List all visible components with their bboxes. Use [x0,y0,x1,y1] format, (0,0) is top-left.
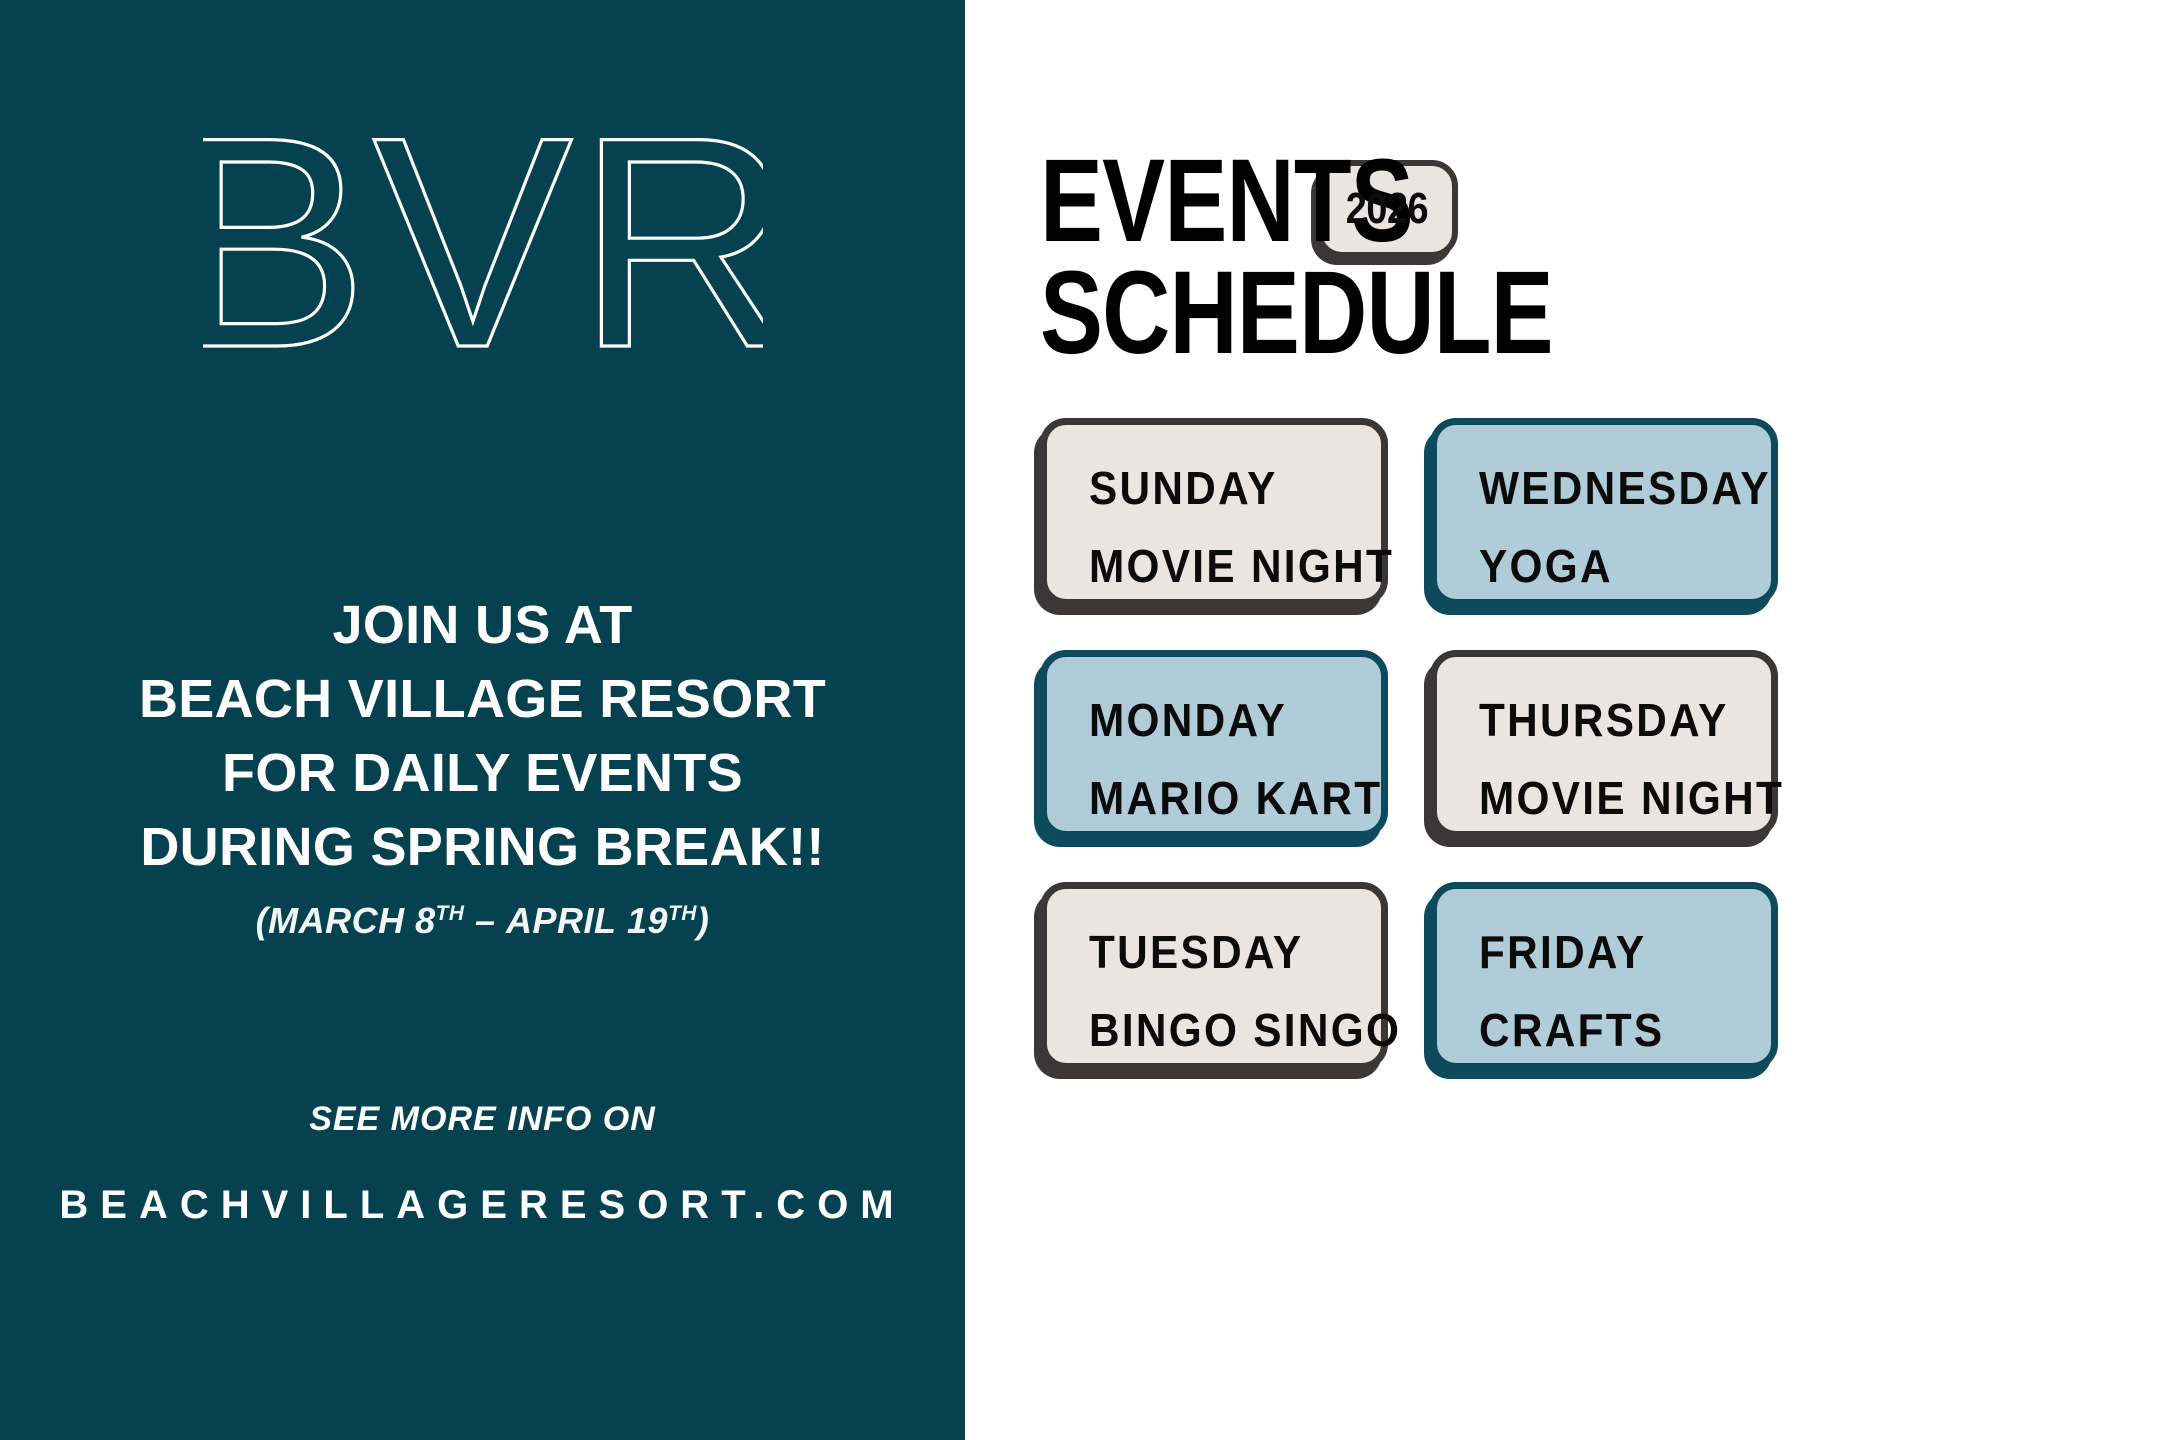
date-dash: – [475,900,496,941]
date-end-day: 19 [627,900,668,941]
date-close-paren: ) [697,900,710,941]
heading-row-bottom: SCHEDULE [1040,262,2060,366]
right-schedule-panel: EVENTS 2026 SCHEDULE SUNDAY MOVIE NIGHT … [965,0,2160,1440]
bvr-logo-text: BVR [203,128,763,398]
event-cards-grid: SUNDAY MOVIE NIGHT WEDNESDAY YOGA MONDAY… [1040,418,2040,1070]
event-card-day: FRIDAY [1479,929,1748,975]
date-start-ordinal: TH [436,902,465,925]
event-card-day: WEDNESDAY [1479,465,1748,511]
invite-line-4: DURING SPRING BREAK!! [0,810,965,884]
event-card-tuesday[interactable]: TUESDAY BINGO SINGO [1040,882,1388,1070]
event-card-monday[interactable]: MONDAY MARIO KART [1040,650,1388,838]
schedule-heading: EVENTS 2026 SCHEDULE [1040,150,2060,366]
event-card-title: MOVIE NIGHT [1089,543,1358,589]
more-info-block: SEE MORE INFO ON BEACHVILLAGERESORT.COM [0,1100,965,1228]
invitation-text-block: JOIN US AT BEACH VILLAGE RESORT FOR DAIL… [0,588,965,942]
event-card-title: YOGA [1479,543,1748,589]
event-card-friday[interactable]: FRIDAY CRAFTS [1430,882,1778,1070]
date-end-ordinal: TH [668,902,697,925]
left-brand-panel: BVR JOIN US AT BEACH VILLAGE RESORT FOR … [0,0,965,1440]
event-card-day: TUESDAY [1089,929,1358,975]
event-card-title: BINGO SINGO [1089,1007,1358,1053]
invite-line-2: BEACH VILLAGE RESORT [0,662,965,736]
event-card-day: THURSDAY [1479,697,1748,743]
event-card-day: MONDAY [1089,697,1358,743]
website-url[interactable]: BEACHVILLAGERESORT.COM [0,1183,965,1228]
event-card-wednesday[interactable]: WEDNESDAY YOGA [1430,418,1778,606]
date-open-paren: ( [256,900,269,941]
event-card-title: CRAFTS [1479,1007,1748,1053]
see-more-info-label: SEE MORE INFO ON [0,1100,965,1139]
date-start-month: MARCH [268,900,404,941]
date-end-month: APRIL [506,900,617,941]
date-start-day: 8 [415,900,436,941]
heading-row-top: EVENTS 2026 [1040,150,2060,258]
events-schedule-poster: BVR JOIN US AT BEACH VILLAGE RESORT FOR … [0,0,2160,1440]
year-badge-label: 2026 [1346,184,1428,234]
page-title-schedule: SCHEDULE [1040,262,1553,366]
event-card-thursday[interactable]: THURSDAY MOVIE NIGHT [1430,650,1778,838]
event-card-title: MARIO KART [1089,775,1358,821]
invite-line-3: FOR DAILY EVENTS [0,736,965,810]
event-date-range: (MARCH 8TH – APRIL 19TH) [0,900,965,942]
invite-line-1: JOIN US AT [0,588,965,662]
bvr-logo: BVR [203,128,763,398]
event-card-sunday[interactable]: SUNDAY MOVIE NIGHT [1040,418,1388,606]
event-card-day: SUNDAY [1089,465,1358,511]
event-card-title: MOVIE NIGHT [1479,775,1748,821]
